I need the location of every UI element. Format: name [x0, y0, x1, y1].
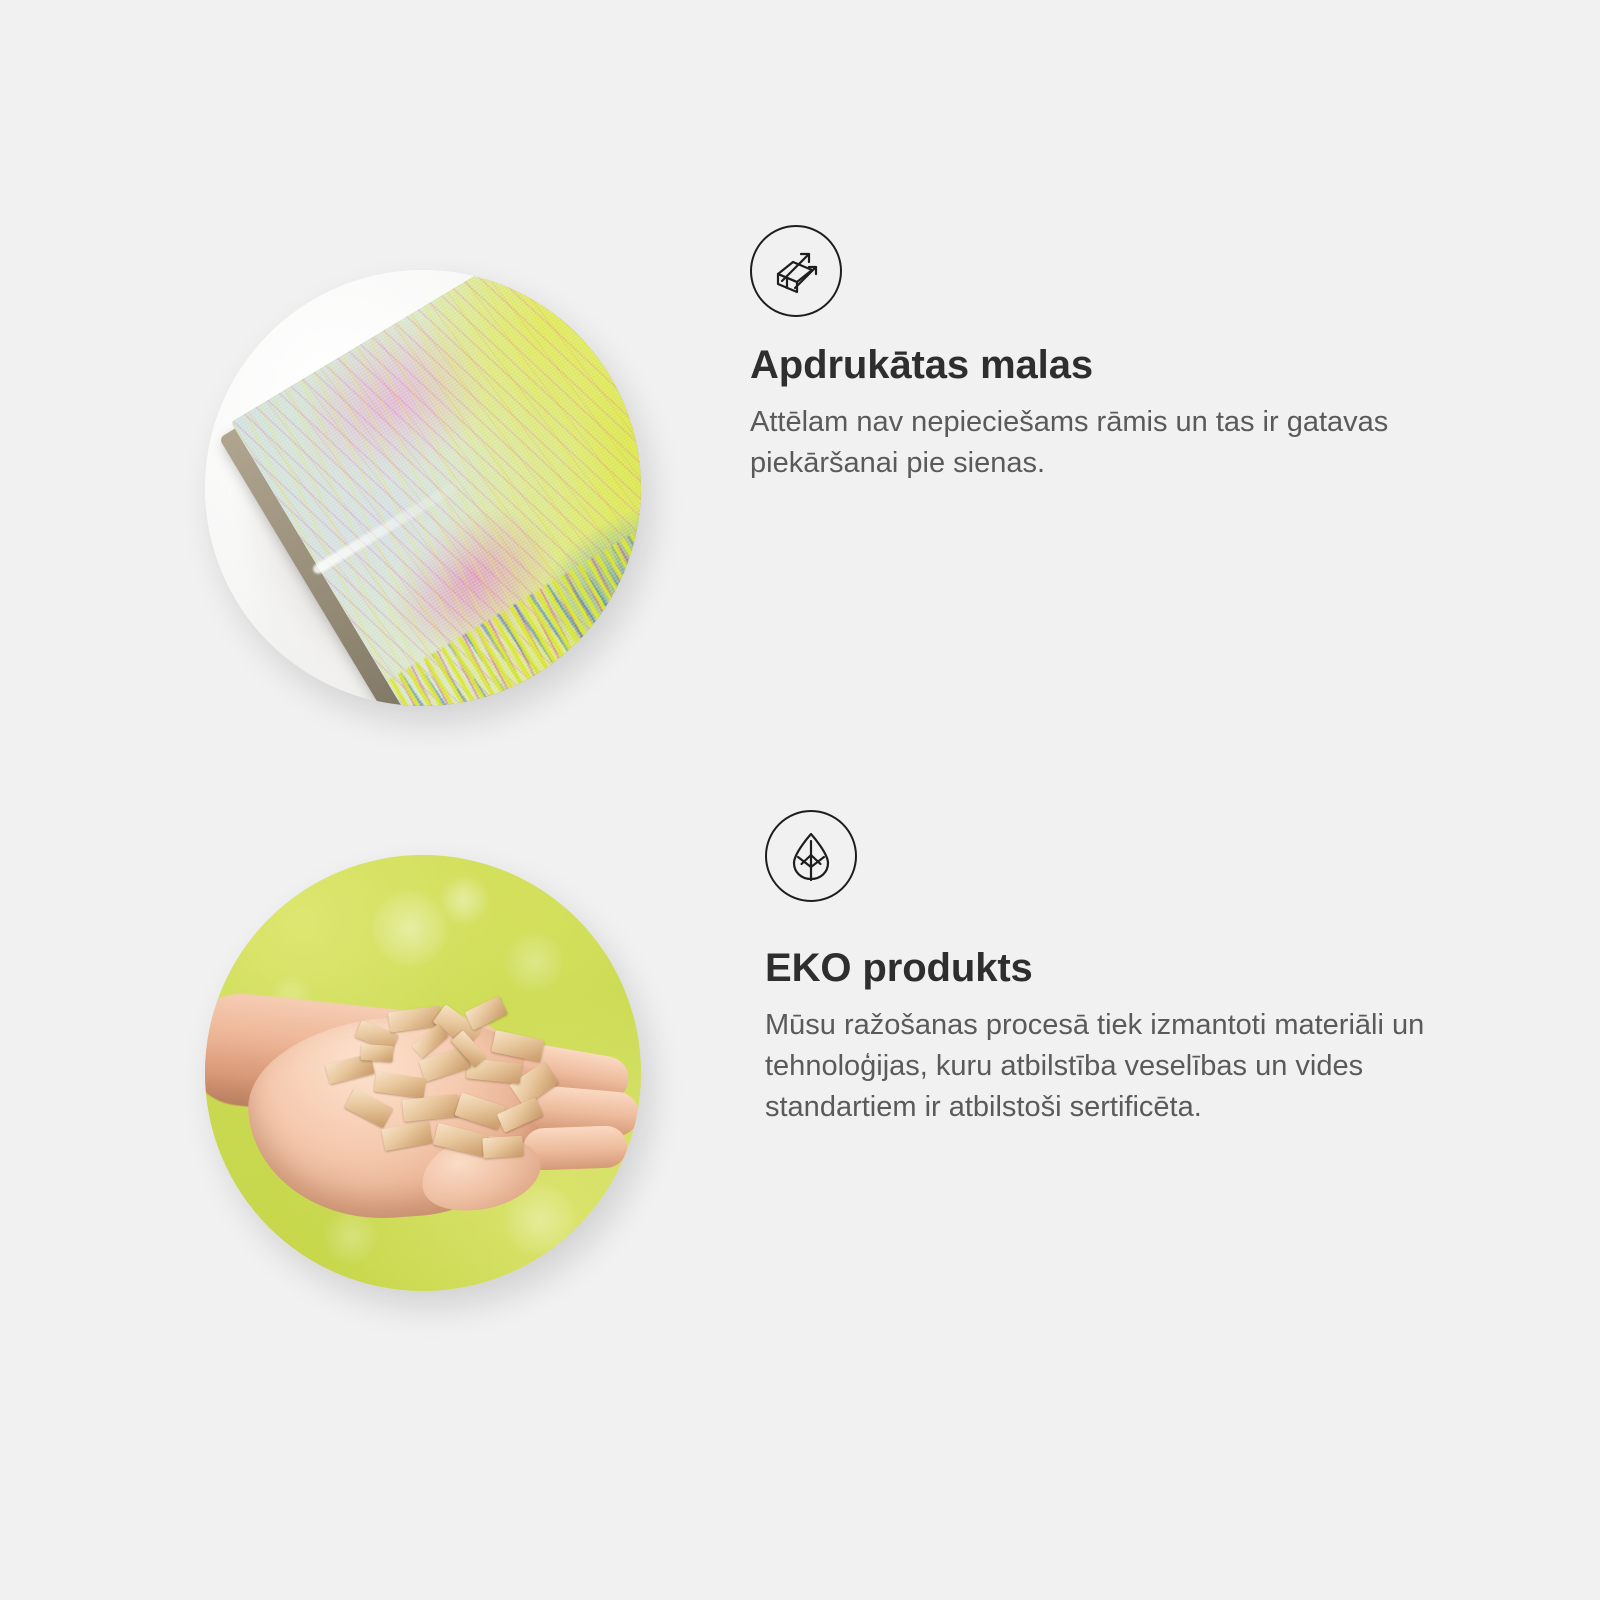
feature-block-eco-product: EKO produkts Mūsu ražošanas procesā tiek…: [0, 810, 1600, 1370]
leaf-icon: [765, 810, 857, 902]
feature-2-description: Mūsu ražošanas procesā tiek izmantoti ma…: [765, 1005, 1480, 1129]
wood-chip: [497, 1097, 544, 1132]
bokeh-light: [373, 891, 447, 965]
wood-chip: [381, 1121, 432, 1151]
bokeh-light: [505, 933, 563, 991]
wood-chip: [491, 1030, 544, 1062]
wood-chip-pile: [317, 1001, 569, 1169]
wood-chip: [433, 1123, 489, 1157]
wood-chip: [344, 1088, 393, 1128]
wood-chip: [360, 1044, 393, 1062]
wood-chips-in-hand-photo: [205, 855, 641, 1291]
wood-chip: [465, 996, 508, 1031]
feature-1-content: Apdrukātas malas Attēlam nav nepieciešam…: [750, 225, 1490, 484]
eco-photo-inner: [205, 855, 641, 1291]
feature-block-printed-edges: Apdrukātas malas Attēlam nav nepieciešam…: [0, 225, 1600, 785]
canvas-photo-inner: [205, 270, 641, 706]
wood-chip: [374, 1072, 426, 1099]
wood-chip: [454, 1092, 505, 1129]
bokeh-light: [325, 1211, 377, 1263]
feature-1-title: Apdrukātas malas: [750, 343, 1490, 388]
printed-edges-icon: [750, 225, 842, 317]
feature-1-description: Attēlam nav nepieciešams rāmis un tas ir…: [750, 402, 1460, 484]
canvas-corner-photo: [205, 270, 641, 706]
bokeh-light: [441, 877, 487, 923]
wood-chip: [482, 1136, 523, 1159]
wood-chip: [402, 1094, 460, 1122]
feature-2-content: EKO produkts Mūsu ražošanas procesā tiek…: [765, 810, 1505, 1128]
feature-highlights-page: Apdrukātas malas Attēlam nav nepieciešam…: [0, 0, 1600, 1600]
feature-2-title: EKO produkts: [765, 946, 1505, 991]
